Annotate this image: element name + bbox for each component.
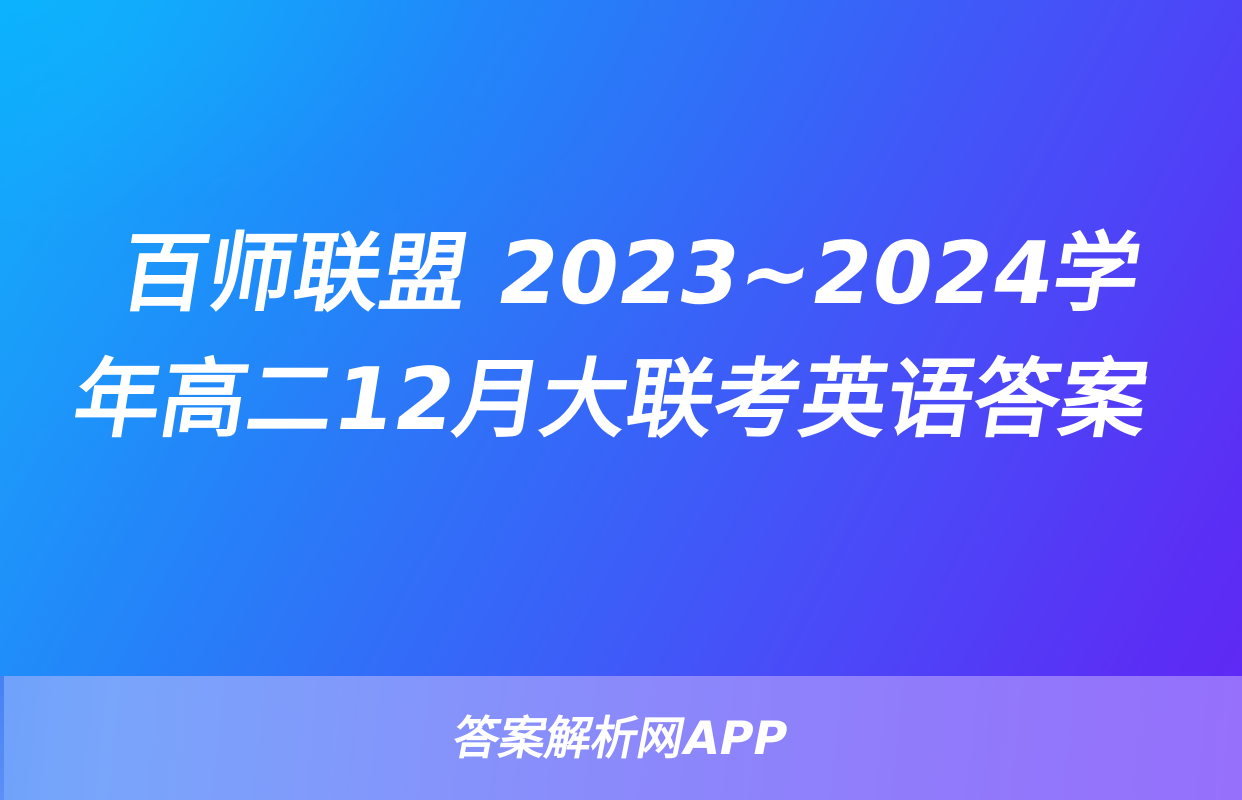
watermark-band: 答案解析网APP <box>0 676 1242 800</box>
page-title: 百师联盟 2023~2024学年高二12月大联考英语答案 <box>54 212 1188 463</box>
hero-gradient-background: 百师联盟 2023~2024学年高二12月大联考英语答案 <box>0 0 1242 676</box>
poster-canvas: 百师联盟 2023~2024学年高二12月大联考英语答案 答案解析网APP <box>0 0 1242 800</box>
hero-content: 百师联盟 2023~2024学年高二12月大联考英语答案 <box>0 0 1242 676</box>
watermark-label: 答案解析网APP <box>450 715 792 761</box>
